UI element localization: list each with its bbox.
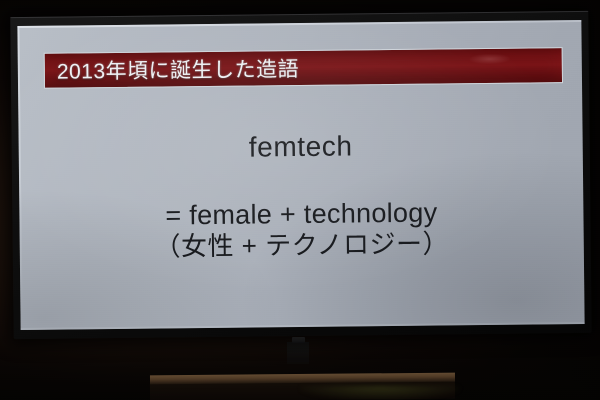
slide-title: 2013年頃に誕生した造語 [57, 53, 300, 86]
tv-stand-neck [287, 342, 309, 364]
tv-screen: 2013年頃に誕生した造語 femtech = female + technol… [17, 20, 584, 330]
slide-title-bar: 2013年頃に誕生した造語 [44, 47, 563, 89]
slide-body: femtech = female + technology （女性 + テクノロ… [19, 130, 584, 264]
slide-equation-block: = female + technology （女性 + テクノロジー） [19, 196, 584, 264]
slide-equation-japanese: （女性 + テクノロジー） [20, 227, 584, 264]
slide-term: femtech [19, 130, 583, 164]
title-bar-sheen [470, 54, 510, 64]
ir-sensor-icon [292, 337, 305, 343]
screenshot-root: 2013年頃に誕生した造語 femtech = female + technol… [0, 0, 600, 400]
ledge-glow [300, 386, 460, 400]
television: 2013年頃に誕生した造語 femtech = female + technol… [10, 11, 591, 339]
